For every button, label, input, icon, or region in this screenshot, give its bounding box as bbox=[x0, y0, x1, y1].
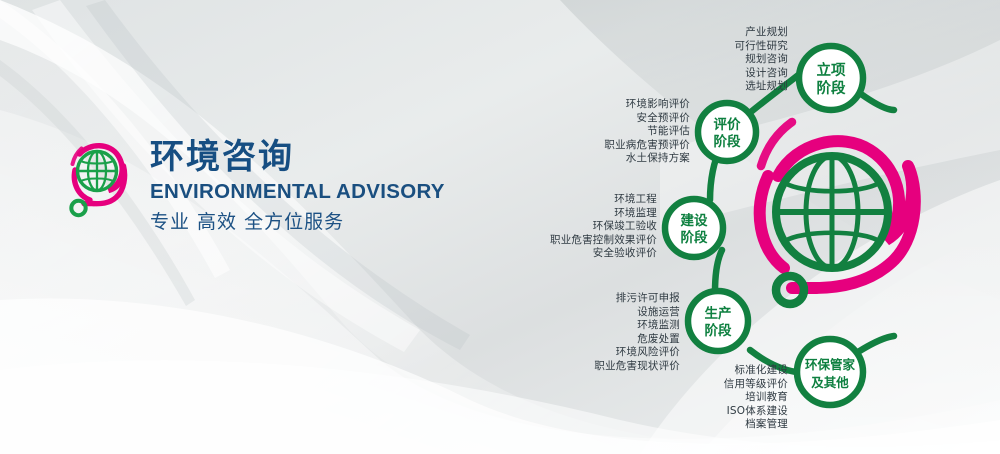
list-item: 危废处置 bbox=[594, 333, 680, 347]
list-item: 安全预评价 bbox=[604, 112, 690, 126]
list-item: 排污许可申报 bbox=[594, 292, 680, 306]
list-item: 设施运营 bbox=[594, 306, 680, 320]
stage-node-ping-jia-label-2: 阶段 bbox=[714, 133, 742, 150]
brand-title-en: ENVIRONMENTAL ADVISORY bbox=[150, 178, 445, 206]
list-item: 环境影响评价 bbox=[604, 98, 690, 112]
list-item: 规划咨询 bbox=[735, 53, 789, 67]
list-item: 环境监理 bbox=[550, 207, 657, 221]
list-item: 产业规划 bbox=[735, 26, 789, 40]
globe-swirl-logo-icon bbox=[62, 140, 134, 224]
stage-items-sheng-chan: 排污许可申报 设施运营 环境监测 危废处置 环境风险评价 职业危害现状评价 bbox=[594, 292, 680, 374]
stage-node-ping-jia-label-1: 评价 bbox=[714, 117, 742, 133]
stage-items-ping-jia: 环境影响评价 安全预评价 节能评估 职业病危害预评价 水土保持方案 bbox=[604, 98, 690, 166]
list-item: 职业危害控制效果评价 bbox=[550, 234, 657, 248]
service-stages-diagram: 立项 阶段 评价 阶段 建设 阶段 生产 阶段 bbox=[520, 0, 1000, 454]
stage-node-li-xiang-label-2: 阶段 bbox=[817, 79, 846, 97]
list-item: 环境监测 bbox=[594, 319, 680, 333]
brand-title-cn: 环境咨询 bbox=[150, 138, 445, 176]
stage-node-li-xiang[interactable]: 立项 阶段 bbox=[799, 46, 863, 110]
list-item: ISO体系建设 bbox=[724, 405, 788, 419]
stage-node-jian-she[interactable]: 建设 阶段 bbox=[665, 199, 723, 257]
list-item: 环境工程 bbox=[550, 193, 657, 207]
brand-block: 环境咨询 ENVIRONMENTAL ADVISORY 专业 高效 全方位服务 bbox=[62, 136, 445, 236]
list-item: 水土保持方案 bbox=[604, 152, 690, 166]
list-item: 安全验收评价 bbox=[550, 247, 657, 261]
brand-slogan: 专业 高效 全方位服务 bbox=[150, 209, 445, 237]
list-item: 信用等级评价 bbox=[724, 378, 788, 392]
banner-stage: 环境咨询 ENVIRONMENTAL ADVISORY 专业 高效 全方位服务 bbox=[0, 0, 1000, 454]
stage-node-jian-she-label-1: 建设 bbox=[680, 212, 709, 229]
stage-node-huan-bao-label-2: 及其他 bbox=[811, 375, 849, 390]
stage-node-huan-bao-guan-jia[interactable]: 环保管家 及其他 bbox=[797, 339, 863, 405]
list-item: 环境风险评价 bbox=[594, 346, 680, 360]
list-item: 职业危害现状评价 bbox=[594, 360, 680, 374]
list-item: 选址规划 bbox=[735, 80, 789, 94]
list-item: 设计咨询 bbox=[735, 67, 789, 81]
stage-node-huan-bao-label-1: 环保管家 bbox=[805, 357, 856, 372]
stage-node-sheng-chan[interactable]: 生产 阶段 bbox=[688, 291, 748, 351]
stage-items-huan-bao-guan-jia: 标准化建设 信用等级评价 培训教育 ISO体系建设 档案管理 bbox=[724, 364, 788, 432]
stage-node-ping-jia[interactable]: 评价 阶段 bbox=[698, 103, 756, 161]
list-item: 职业病危害预评价 bbox=[604, 139, 690, 153]
stage-items-jian-she: 环境工程 环境监理 环保竣工验收 职业危害控制效果评价 安全验收评价 bbox=[550, 193, 657, 261]
list-item: 培训教育 bbox=[724, 391, 788, 405]
list-item: 档案管理 bbox=[724, 418, 788, 432]
center-globe-emblem bbox=[760, 122, 915, 304]
stage-node-sheng-chan-label-2: 阶段 bbox=[705, 322, 733, 339]
list-item: 环保竣工验收 bbox=[550, 220, 657, 234]
stage-node-li-xiang-label-1: 立项 bbox=[817, 61, 846, 79]
list-item: 可行性研究 bbox=[735, 40, 789, 54]
stage-node-jian-she-label-2: 阶段 bbox=[681, 229, 709, 246]
stage-items-li-xiang: 产业规划 可行性研究 规划咨询 设计咨询 选址规划 bbox=[735, 26, 789, 94]
list-item: 标准化建设 bbox=[724, 364, 788, 378]
stage-node-sheng-chan-label-1: 生产 bbox=[705, 305, 732, 322]
list-item: 节能评估 bbox=[604, 125, 690, 139]
